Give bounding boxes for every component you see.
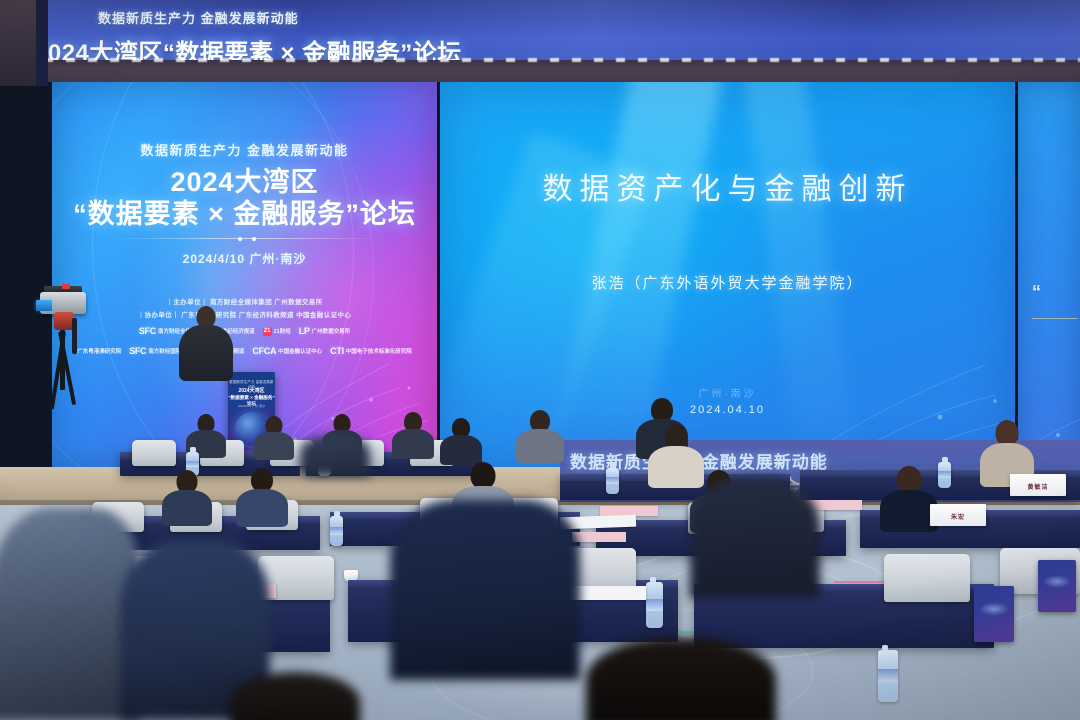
left-screen-subtitle: 数据新质生产力 金融发展新动能 xyxy=(52,140,437,159)
attendee-torso xyxy=(516,429,564,463)
camera-field-monitor xyxy=(36,300,52,311)
foreground-attendee-center xyxy=(390,500,580,680)
far-right-led-screen: “ xyxy=(1018,82,1080,467)
foreground-attendee-left xyxy=(0,508,140,720)
chair-front-6 xyxy=(884,554,970,602)
water-bottle-front-3 xyxy=(646,582,663,628)
attendee-torso xyxy=(162,490,212,526)
midground-attendee-shadow xyxy=(300,436,370,476)
speaker-torso xyxy=(179,325,233,381)
camera-pan-arm xyxy=(72,318,77,354)
podium-title-line1: 2024大湾区 xyxy=(228,387,275,394)
water-bottle-mid-1 xyxy=(330,516,343,546)
water-bottle-front-4 xyxy=(878,650,898,702)
conference-bag-2 xyxy=(974,586,1014,642)
water-bottle-back-3 xyxy=(606,468,619,494)
foreground-attendee-right xyxy=(690,478,820,598)
attendee-back-2 xyxy=(254,416,294,454)
name-card-text: 黄敏洁 xyxy=(1010,482,1066,491)
attendee-torso xyxy=(236,489,288,527)
sponsor-logo: 广东粤港澳研究院 xyxy=(77,347,121,355)
slide-title: 数据资产化与金融创新 xyxy=(440,164,1015,208)
attendee-mid-2 xyxy=(236,468,288,520)
attendee-back-6 xyxy=(516,410,564,458)
quote-glyph: “ xyxy=(1032,282,1039,303)
tripod-center-column xyxy=(60,330,65,390)
name-card-text: 朱宏 xyxy=(930,512,986,521)
attendee-torso xyxy=(254,432,294,460)
speaker-at-podium xyxy=(178,306,234,378)
name-card-2: 朱宏 xyxy=(930,504,986,526)
conference-photo-scene: 数据新质生产力 金融发展新动能 2024大湾区“数据要素 × 金融服务”论坛 数… xyxy=(0,0,1080,720)
water-bottle-back-4 xyxy=(938,462,951,488)
left-screen-date-location: 2024/4/10 广州·南沙 xyxy=(52,250,437,267)
far-right-rule xyxy=(1032,318,1078,319)
foreground-head-center xyxy=(586,638,776,720)
attendee-mid-1 xyxy=(162,470,212,520)
venue-banner-subtitle: 数据新质生产力 金融发展新动能 xyxy=(98,8,299,27)
podium-footnote: 2024/4/10 广州·南沙 xyxy=(228,404,275,408)
attendee-head xyxy=(471,462,496,489)
attendee-back-9 xyxy=(980,420,1034,482)
wall-left-column-shadow xyxy=(36,0,48,86)
left-screen-divider xyxy=(110,238,380,239)
camera-lens-icon xyxy=(54,312,74,330)
wall-dark-band xyxy=(0,60,1080,82)
wall-left-column xyxy=(0,0,36,86)
conference-bag-1 xyxy=(1038,560,1076,612)
attendee-torso xyxy=(440,435,482,465)
attendee-back-5 xyxy=(440,418,482,458)
attendee-torso xyxy=(392,429,434,459)
chair-back-1 xyxy=(132,440,176,466)
name-card-1: 黄敏洁 xyxy=(1010,474,1066,496)
attendee-head xyxy=(897,466,922,493)
camera-tally-light-icon xyxy=(62,284,70,289)
ceiling-led-strip xyxy=(0,58,1080,62)
pink-handout-front-2 xyxy=(572,532,626,542)
attendee-back-4 xyxy=(392,412,434,452)
left-screen-title-line2: “数据要素 × 金融服务”论坛 xyxy=(52,192,437,231)
